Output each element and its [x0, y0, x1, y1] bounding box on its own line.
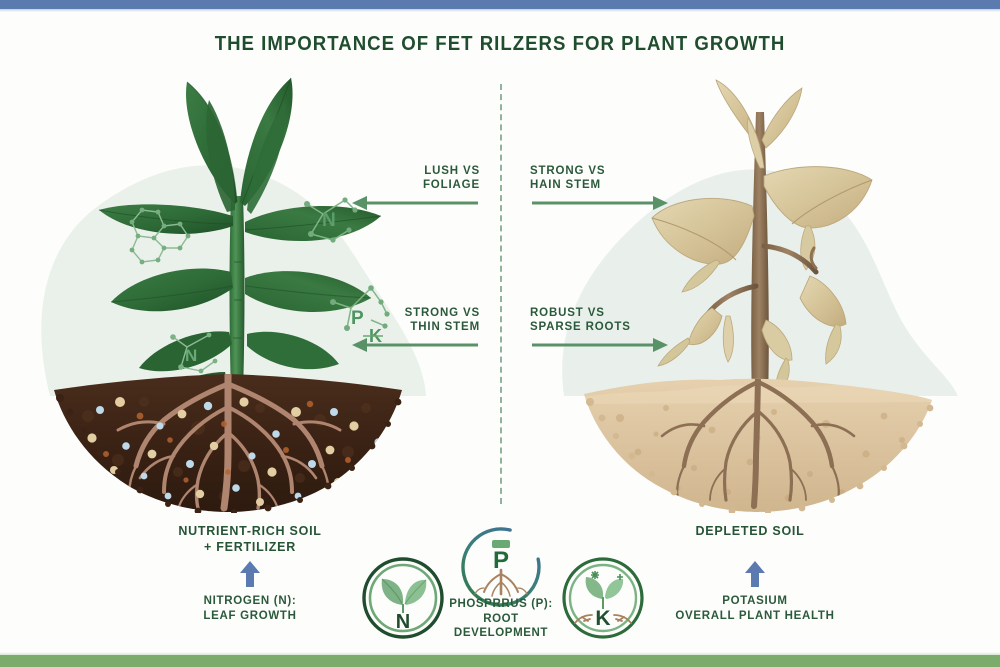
comparison-right-row1: STRONG VS HAIN STEM: [530, 164, 670, 214]
bottom-border-bar: [0, 655, 1000, 667]
arrow-left-icon-row2: [350, 334, 480, 356]
top-border-bar: [0, 0, 1000, 9]
molecule-hexagon-icon: [118, 198, 196, 276]
molecule-nitrogen-icon-bottom: N: [165, 325, 227, 387]
badge-potassium[interactable]: K: [562, 557, 644, 639]
wilted-plant-illustration: [640, 76, 940, 406]
comparison-left-row1: LUSH VS FOLIAGE: [350, 164, 480, 214]
badge-nitrogen[interactable]: N: [362, 557, 444, 639]
nutrient-rich-soil-mound: [48, 368, 408, 513]
comparison-right-row2-label: ROBUST VS SPARSE ROOTS: [530, 306, 670, 334]
comparison-left-row1-label: LUSH VS FOLIAGE: [350, 164, 480, 192]
seedling-sparkle-icon: [586, 571, 623, 609]
top-border-shadow: [0, 9, 1000, 12]
root-system-icon: [475, 570, 527, 596]
depleted-soil-mound: [578, 368, 938, 513]
arrow-right-icon-row2: [530, 334, 670, 356]
infographic-poster: THE IMPORTANCE OF FET RILZERS FOR PLANT …: [0, 0, 1000, 667]
comparison-right-row1-label: STRONG VS HAIN STEM: [530, 164, 670, 192]
two-leaves-icon: [382, 579, 427, 613]
soil-caption-rich: NUTRIENT-RICH SOIL + FERTILIZER: [140, 523, 360, 555]
legend-label-potassium: POTASIUM OVERALL PLANT HEALTH: [640, 594, 870, 623]
arrow-left-icon-row1: [350, 192, 480, 214]
molecule-label-n2: N: [185, 346, 197, 365]
comparison-right-row2: ROBUST VS SPARSE ROOTS: [530, 306, 670, 356]
badge-phosphorus[interactable]: P: [460, 526, 542, 608]
soil-caption-depleted: DEPLETED SOIL: [650, 523, 850, 539]
comparison-left-row2: STRONG VS THIN STEM: [350, 306, 480, 356]
legend-item-potassium: POTASIUM OVERALL PLANT HEALTH: [640, 560, 870, 623]
arrow-right-icon-row1: [530, 192, 670, 214]
page-title: THE IMPORTANCE OF FET RILZERS FOR PLANT …: [35, 33, 965, 56]
up-arrow-icon-potassium: [744, 560, 766, 588]
legend-label-phosphorus: PHOSPRRUS (P): ROOT DEVELOPMENT: [440, 597, 562, 641]
legend-item-nitrogen: NITROGEN (N): LEAF GROWTH: [140, 560, 360, 623]
legend-label-nitrogen: NITROGEN (N): LEAF GROWTH: [140, 594, 360, 623]
badge-letter-n: N: [396, 611, 410, 633]
comparison-left-row2-label: STRONG VS THIN STEM: [350, 306, 480, 334]
up-arrow-icon-nitrogen: [239, 560, 261, 588]
badge-letter-k: K: [595, 607, 610, 630]
molecule-label-n: N: [322, 210, 336, 231]
vertical-dashed-divider: [500, 84, 502, 504]
